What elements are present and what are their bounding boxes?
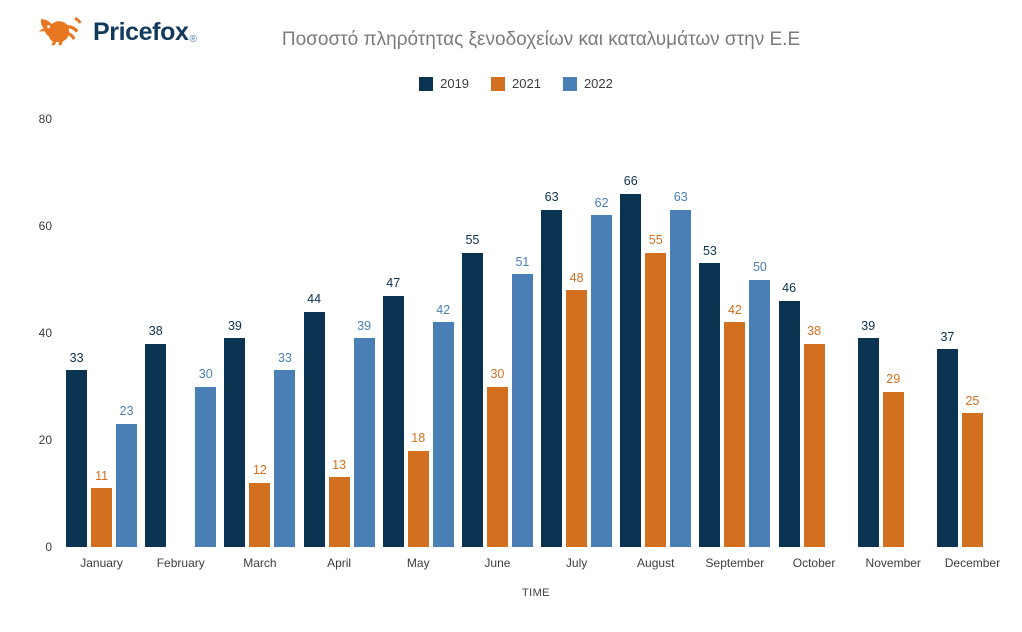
bar-2022-July[interactable] (591, 215, 612, 547)
bar-value-label: 39 (228, 320, 242, 333)
x-axis-category-label: March (243, 556, 276, 570)
bar-2019-August[interactable] (620, 194, 641, 547)
plot-area: 020406080 331123January3830February39123… (0, 0, 1022, 632)
bar-slot-2021: 11 (91, 119, 112, 547)
bar-value-label: 63 (545, 191, 559, 204)
bar-value-label: 39 (861, 320, 875, 333)
bar-value-label: 33 (278, 352, 292, 365)
bar-2019-April[interactable] (304, 312, 325, 547)
bar-2021-June[interactable] (487, 387, 508, 548)
bar-slot-2022: 62 (591, 119, 612, 547)
bar-2021-December[interactable] (962, 413, 983, 547)
y-axis-tick: 60 (39, 219, 52, 233)
bar-value-label: 23 (120, 405, 134, 418)
x-axis-category-label: September (706, 556, 765, 570)
bar-value-label: 51 (515, 256, 529, 269)
bar-2021-August[interactable] (645, 253, 666, 547)
bar-slot-2019: 46 (779, 119, 800, 547)
bar-value-label: 37 (940, 331, 954, 344)
bar-slot-2022 (987, 119, 1008, 547)
bar-value-label: 62 (595, 197, 609, 210)
bar-slot-2021: 30 (487, 119, 508, 547)
bar-slot-2022: 33 (274, 119, 295, 547)
bar-slot-2022 (908, 119, 929, 547)
y-axis-tick: 40 (39, 326, 52, 340)
x-axis-category-label: May (407, 556, 430, 570)
bar-2021-April[interactable] (329, 477, 350, 547)
bar-group: 534250September (695, 0, 774, 632)
x-axis-category-label: June (484, 556, 510, 570)
bar-group: 471842May (379, 0, 458, 632)
bar-group: 4638October (775, 0, 854, 632)
bar-group: 391233March (220, 0, 299, 632)
y-axis-tick: 0 (45, 540, 52, 554)
bar-slot-2019: 63 (541, 119, 562, 547)
bar-value-label: 25 (965, 395, 979, 408)
bar-group: 441339April (300, 0, 379, 632)
bar-slot-2019: 38 (145, 119, 166, 547)
bar-group: 665563August (616, 0, 695, 632)
bar-slot-2019: 44 (304, 119, 325, 547)
bar-value-label: 63 (674, 191, 688, 204)
bar-2019-June[interactable] (462, 253, 483, 547)
bar-slot-2021: 29 (883, 119, 904, 547)
bar-value-label: 39 (357, 320, 371, 333)
x-axis-category-label: July (566, 556, 587, 570)
bar-2021-September[interactable] (724, 322, 745, 547)
x-axis-category-label: January (80, 556, 123, 570)
bar-slot-2022: 51 (512, 119, 533, 547)
bar-slot-2019: 33 (66, 119, 87, 547)
bar-2022-March[interactable] (274, 370, 295, 547)
bar-value-label: 44 (307, 293, 321, 306)
bar-2022-September[interactable] (749, 280, 770, 548)
bar-slot-2021 (170, 119, 191, 547)
bar-2021-March[interactable] (249, 483, 270, 547)
bar-slot-2019: 53 (699, 119, 720, 547)
bar-value-label: 33 (70, 352, 84, 365)
bar-slot-2021: 38 (804, 119, 825, 547)
bar-2021-November[interactable] (883, 392, 904, 547)
bar-2019-July[interactable] (541, 210, 562, 547)
bar-value-label: 12 (253, 464, 267, 477)
x-axis-category-label: November (866, 556, 921, 570)
bar-2019-March[interactable] (224, 338, 245, 547)
bar-value-label: 38 (807, 325, 821, 338)
bar-slot-2022: 23 (116, 119, 137, 547)
bar-group: 331123January (62, 0, 141, 632)
bar-2021-October[interactable] (804, 344, 825, 547)
bar-2019-December[interactable] (937, 349, 958, 547)
x-axis-category-label: February (157, 556, 205, 570)
x-axis-category-label: August (637, 556, 674, 570)
bar-slot-2021: 55 (645, 119, 666, 547)
bar-slot-2022: 30 (195, 119, 216, 547)
bar-slot-2019: 39 (858, 119, 879, 547)
bar-slot-2021: 18 (408, 119, 429, 547)
bar-2022-February[interactable] (195, 387, 216, 548)
bar-slot-2022 (829, 119, 850, 547)
bar-2019-September[interactable] (699, 263, 720, 547)
bar-value-label: 50 (753, 261, 767, 274)
bar-value-label: 11 (95, 470, 108, 483)
bar-value-label: 46 (782, 282, 796, 295)
bar-slot-2022: 39 (354, 119, 375, 547)
bar-2021-July[interactable] (566, 290, 587, 547)
bar-value-label: 42 (436, 304, 450, 317)
bar-2022-April[interactable] (354, 338, 375, 547)
bar-slot-2021: 13 (329, 119, 350, 547)
bar-2019-May[interactable] (383, 296, 404, 547)
x-axis-category-label: April (327, 556, 351, 570)
bar-value-label: 53 (703, 245, 717, 258)
bar-2019-October[interactable] (779, 301, 800, 547)
bar-value-label: 55 (465, 234, 479, 247)
bar-slot-2021: 25 (962, 119, 983, 547)
y-axis-tick: 80 (39, 112, 52, 126)
bar-group: 3830February (141, 0, 220, 632)
bar-value-label: 18 (411, 432, 425, 445)
bar-value-label: 38 (149, 325, 163, 338)
bar-value-label: 30 (199, 368, 213, 381)
bar-slot-2019: 37 (937, 119, 958, 547)
bar-group: 553051June (458, 0, 537, 632)
bar-slot-2022: 50 (749, 119, 770, 547)
bar-2019-November[interactable] (858, 338, 879, 547)
bar-slot-2021: 12 (249, 119, 270, 547)
bar-slot-2021: 48 (566, 119, 587, 547)
bar-group: 3929November (854, 0, 933, 632)
bar-2019-February[interactable] (145, 344, 166, 547)
bar-slot-2022: 42 (433, 119, 454, 547)
x-axis-category-label: December (945, 556, 1000, 570)
bar-value-label: 42 (728, 304, 742, 317)
bar-2022-August[interactable] (670, 210, 691, 547)
bar-2021-May[interactable] (408, 451, 429, 547)
bar-2019-January[interactable] (66, 370, 87, 547)
bar-value-label: 13 (332, 459, 346, 472)
y-axis-tick: 20 (39, 433, 52, 447)
bar-slot-2021: 42 (724, 119, 745, 547)
bar-2021-January[interactable] (91, 488, 112, 547)
bar-slot-2022: 63 (670, 119, 691, 547)
bars-area: 331123January3830February391233March4413… (62, 0, 1012, 632)
chart-container: Pricefox ® Ποσοστό πληρότητας ξενοδοχείω… (0, 0, 1022, 632)
bar-2022-January[interactable] (116, 424, 137, 547)
bar-2022-June[interactable] (512, 274, 533, 547)
bar-slot-2019: 47 (383, 119, 404, 547)
bar-value-label: 66 (624, 175, 638, 188)
bar-value-label: 55 (649, 234, 663, 247)
bar-group: 3725December (933, 0, 1012, 632)
bar-value-label: 30 (490, 368, 504, 381)
y-axis: 020406080 (0, 0, 62, 632)
bar-value-label: 48 (570, 272, 584, 285)
bar-value-label: 29 (886, 373, 900, 386)
bar-slot-2019: 39 (224, 119, 245, 547)
bar-slot-2019: 66 (620, 119, 641, 547)
x-axis-category-label: October (793, 556, 836, 570)
bar-2022-May[interactable] (433, 322, 454, 547)
bar-slot-2019: 55 (462, 119, 483, 547)
bar-group: 634862July (537, 0, 616, 632)
x-axis-title: TIME (0, 587, 1022, 599)
bar-value-label: 47 (386, 277, 400, 290)
